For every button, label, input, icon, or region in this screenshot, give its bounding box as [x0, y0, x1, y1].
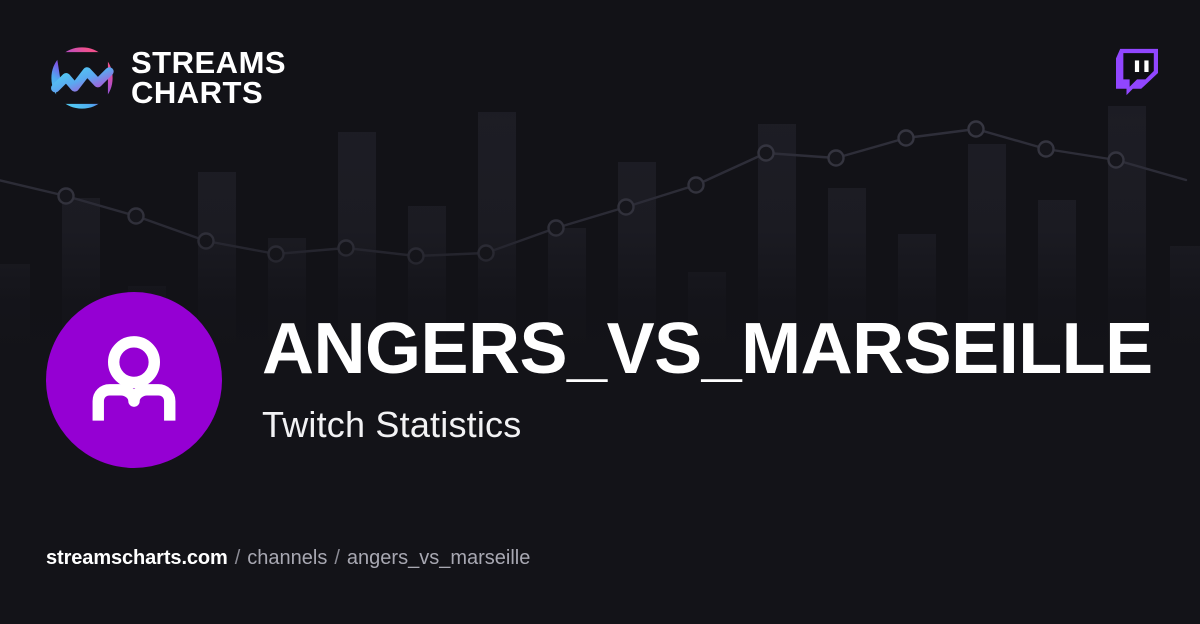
channel-identity: ANGERS_VS_MARSEILLE Twitch Statistics — [46, 292, 1200, 468]
breadcrumb-item-channels[interactable]: channels — [247, 546, 327, 570]
background-chart-line — [0, 129, 1186, 256]
brand-logo-text: STREAMS CHARTS — [131, 48, 286, 108]
breadcrumb-item-channel[interactable]: angers_vs_marseille — [347, 546, 530, 570]
channel-hero-card: STREAMS CHARTS ANGERS_VS_MARSEILLE Twitc… — [0, 0, 1200, 624]
background-chart-markers — [59, 122, 1124, 264]
channel-titles: ANGERS_VS_MARSEILLE Twitch Statistics — [262, 313, 1153, 446]
brand-logo[interactable]: STREAMS CHARTS — [46, 42, 286, 114]
brand-name-line1: STREAMS — [131, 48, 286, 78]
breadcrumb-domain[interactable]: streamscharts.com — [46, 546, 228, 570]
streamscharts-logo-icon — [46, 42, 118, 114]
breadcrumb-separator: / — [235, 546, 241, 570]
twitch-icon[interactable] — [1116, 48, 1158, 96]
brand-name-line2: CHARTS — [131, 78, 286, 108]
user-avatar-icon — [82, 328, 186, 432]
breadcrumb-separator: / — [334, 546, 340, 570]
page-title: ANGERS_VS_MARSEILLE — [262, 313, 1153, 385]
page-subtitle: Twitch Statistics — [262, 403, 1153, 446]
breadcrumb: streamscharts.com / channels / angers_vs… — [46, 546, 530, 570]
avatar[interactable] — [46, 292, 222, 468]
